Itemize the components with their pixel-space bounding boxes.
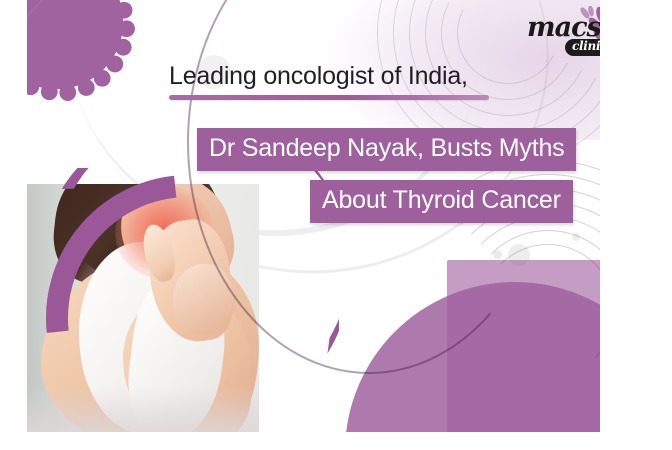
headline-underline	[169, 95, 489, 100]
headline-line3: About Thyroid Cancer	[310, 180, 573, 223]
logo-subtitle: clinic	[565, 39, 600, 56]
photo-knuckles	[173, 264, 233, 334]
purple-circle-decoration	[345, 282, 600, 432]
headline-line2: Dr Sandeep Nayak, Busts Myths	[197, 128, 576, 171]
grey-dot-large-decoration	[508, 244, 530, 266]
headline-line1-wrapper: Leading oncologist of India,	[169, 62, 489, 100]
thyroid-neck-photo	[27, 184, 259, 432]
bottom-right-concentric-arcs-decoration	[387, 150, 600, 432]
grey-dot-medium-decoration	[493, 250, 502, 259]
banner-root: Leading oncologist of India, Dr Sandeep …	[27, 0, 600, 432]
purple-rectangle-decoration	[447, 260, 600, 432]
headline-line1: Leading oncologist of India,	[169, 62, 489, 91]
photo-bottom-gradient	[27, 386, 259, 432]
grey-dot-small-decoration	[572, 233, 580, 241]
scalloped-circle-decoration	[27, 0, 140, 106]
macs-clinic-logo[interactable]: macs ® clinic	[525, 6, 600, 60]
logo-wordmark: macs	[527, 14, 600, 41]
grey-circle-decoration	[197, 55, 231, 89]
